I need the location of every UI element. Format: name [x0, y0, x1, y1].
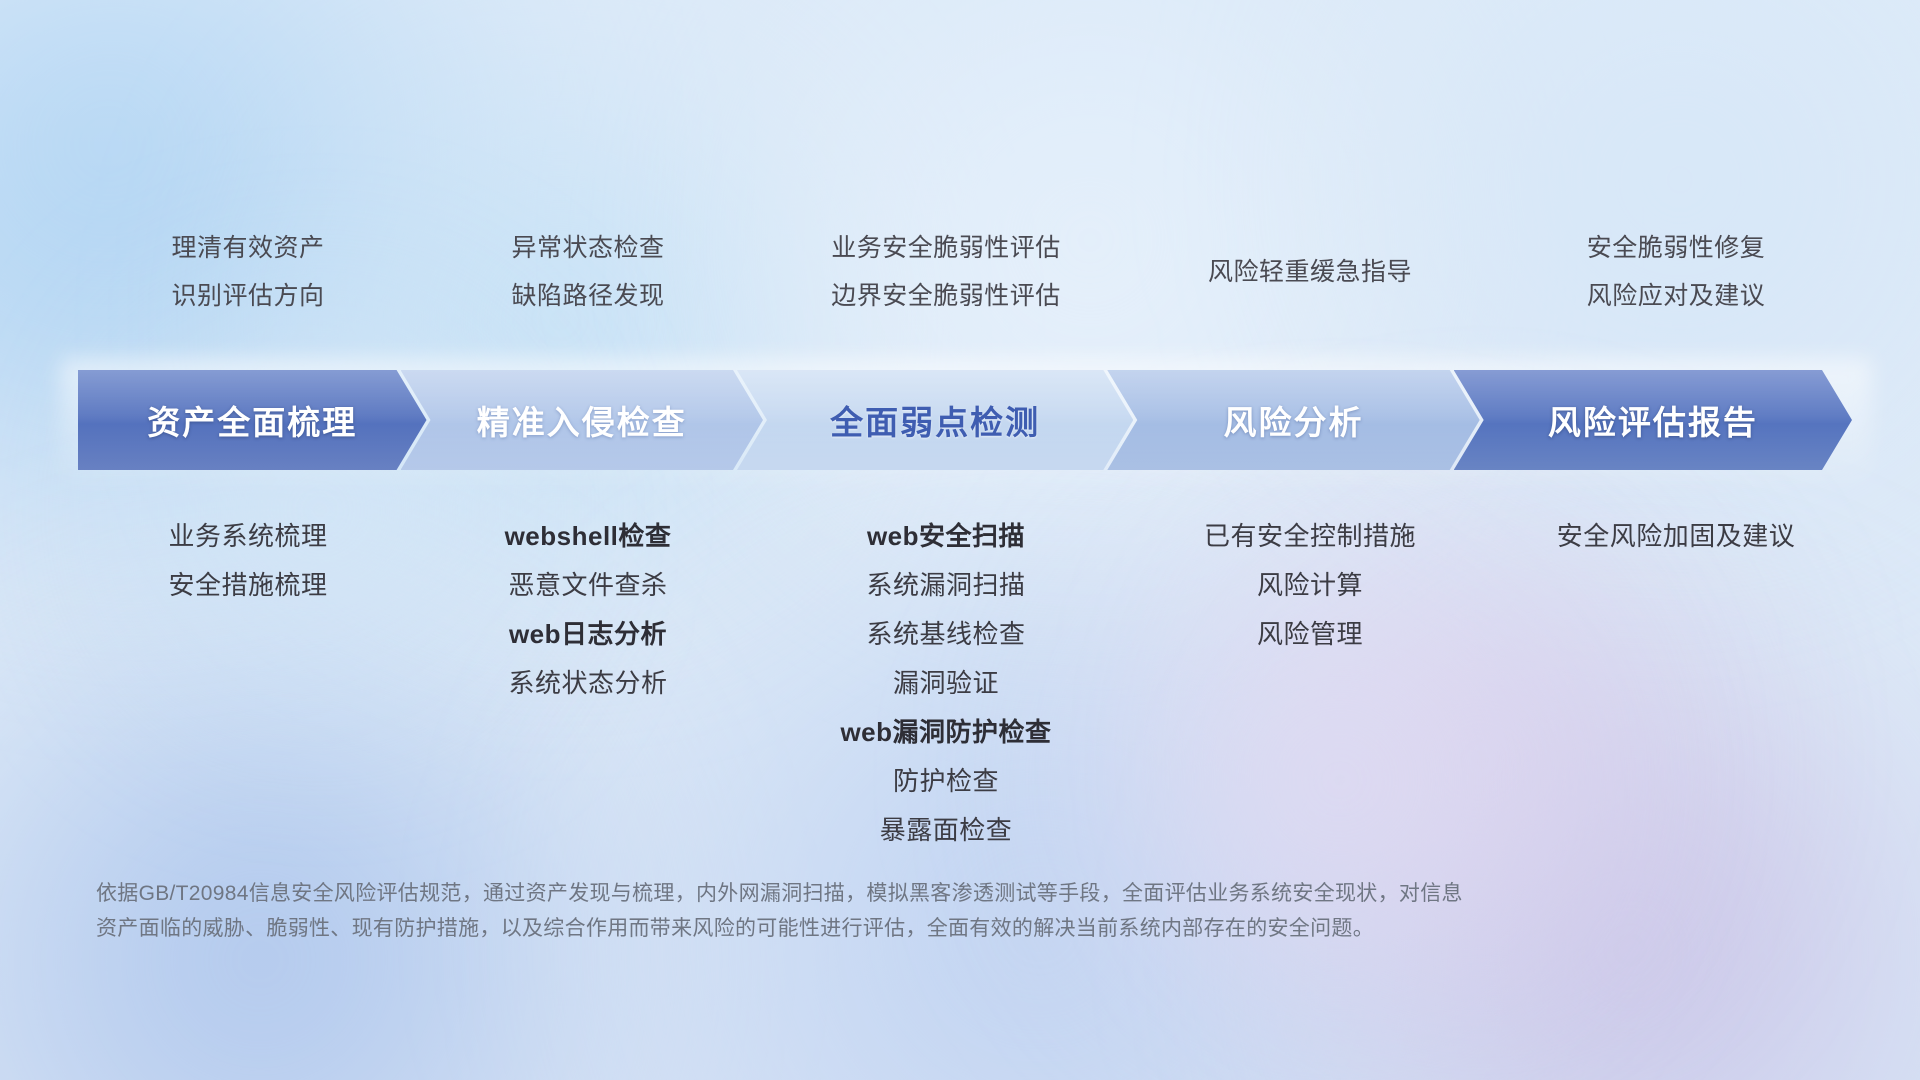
footer-description: 依据GB/T20984信息安全风险评估规范，通过资产发现与梳理，内外网漏洞扫描，…: [96, 876, 1616, 946]
list-item: 防护检查: [758, 757, 1134, 806]
list-item: 漏洞验证: [758, 659, 1134, 708]
list-item: 业务系统梳理: [78, 512, 418, 561]
stage-arrow-label: 风险分析: [1223, 396, 1363, 444]
top-note: 业务安全脆弱性评估: [758, 224, 1134, 272]
stage-arrow-risk-report[interactable]: 风险评估报告: [1454, 370, 1852, 470]
stage-arrow-risk-analysis[interactable]: 风险分析: [1107, 370, 1479, 470]
stage-arrow-label: 资产全面梳理: [147, 396, 357, 444]
infographic-canvas: 理清有效资产 识别评估方向 异常状态检查 缺陷路径发现 业务安全脆弱性评估 边界…: [0, 0, 1920, 1080]
items-risk-report: 安全风险加固及建议: [1486, 512, 1866, 561]
top-note: 边界安全脆弱性评估: [758, 272, 1134, 320]
stage-arrow-weakness-detection[interactable]: 全面弱点检测: [737, 370, 1133, 470]
top-notes-intrusion-check: 异常状态检查 缺陷路径发现: [418, 224, 758, 320]
items-risk-analysis: 已有安全控制措施 风险计算 风险管理: [1134, 512, 1486, 659]
list-item: web安全扫描: [758, 512, 1134, 561]
top-notes-weakness-detection: 业务安全脆弱性评估 边界安全脆弱性评估: [758, 224, 1134, 320]
stage-arrow-label: 精准入侵检查: [477, 396, 687, 444]
stage-arrow-label: 全面弱点检测: [830, 396, 1040, 444]
top-note: 风险轻重缓急指导: [1134, 248, 1486, 296]
list-item: web日志分析: [418, 610, 758, 659]
stage-arrow-label: 风险评估报告: [1548, 396, 1758, 444]
top-note: 风险应对及建议: [1486, 272, 1866, 320]
footer-line: 依据GB/T20984信息安全风险评估规范，通过资产发现与梳理，内外网漏洞扫描，…: [96, 876, 1616, 911]
process-arrow-band: 资产全面梳理 精准入侵检查 全面弱点检测 风险分析 风险评估报告: [78, 370, 1852, 470]
items-intrusion-check: webshell检查 恶意文件查杀 web日志分析 系统状态分析: [418, 512, 758, 708]
list-item: 安全措施梳理: [78, 561, 418, 610]
list-item: 风险管理: [1134, 610, 1486, 659]
top-note: 识别评估方向: [78, 272, 418, 320]
list-item: web漏洞防护检查: [758, 708, 1134, 757]
list-item: 安全风险加固及建议: [1486, 512, 1866, 561]
list-item: 已有安全控制措施: [1134, 512, 1486, 561]
footer-line: 资产面临的威胁、脆弱性、现有防护措施，以及综合作用而带来风险的可能性进行评估，全…: [96, 911, 1616, 946]
list-item: webshell检查: [418, 512, 758, 561]
top-notes-risk-analysis: 风险轻重缓急指导: [1134, 224, 1486, 320]
stage-arrow-intrusion-check[interactable]: 精准入侵检查: [401, 370, 763, 470]
top-notes-asset-inventory: 理清有效资产 识别评估方向: [78, 224, 418, 320]
list-item: 系统漏洞扫描: [758, 561, 1134, 610]
top-note: 理清有效资产: [78, 224, 418, 272]
list-item: 暴露面检查: [758, 806, 1134, 855]
items-weakness-detection: web安全扫描 系统漏洞扫描 系统基线检查 漏洞验证 web漏洞防护检查 防护检…: [758, 512, 1134, 855]
list-item: 系统基线检查: [758, 610, 1134, 659]
items-asset-inventory: 业务系统梳理 安全措施梳理: [78, 512, 418, 610]
top-note: 异常状态检查: [418, 224, 758, 272]
top-note: 安全脆弱性修复: [1486, 224, 1866, 272]
list-item: 风险计算: [1134, 561, 1486, 610]
top-notes-risk-report: 安全脆弱性修复 风险应对及建议: [1486, 224, 1866, 320]
top-note: 缺陷路径发现: [418, 272, 758, 320]
stage-arrow-asset-inventory[interactable]: 资产全面梳理: [78, 370, 427, 470]
list-item: 系统状态分析: [418, 659, 758, 708]
bottom-items-row: 业务系统梳理 安全措施梳理 webshell检查 恶意文件查杀 web日志分析 …: [78, 512, 1880, 855]
top-notes-row: 理清有效资产 识别评估方向 异常状态检查 缺陷路径发现 业务安全脆弱性评估 边界…: [78, 224, 1880, 320]
list-item: 恶意文件查杀: [418, 561, 758, 610]
